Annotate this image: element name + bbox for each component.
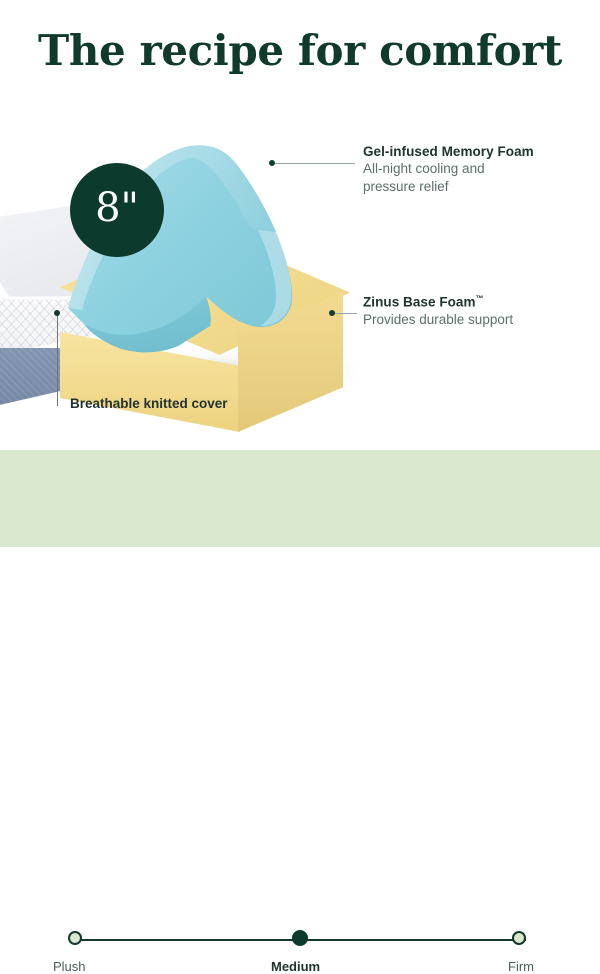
firmness-node-firm[interactable]	[512, 931, 526, 945]
firmness-scale: Plush Medium Firm	[0, 450, 600, 547]
firmness-label-plush: Plush	[53, 959, 86, 974]
callout-base-foam-title-text: Zinus Base Foam	[363, 295, 476, 310]
leader-line-base-foam	[335, 313, 357, 314]
callout-gel-memory-foam-body-line1: All-night cooling and	[363, 160, 534, 178]
callout-gel-memory-foam-title: Gel-infused Memory Foam	[363, 144, 534, 159]
firmness-node-medium[interactable]	[292, 930, 308, 946]
leader-line-knitted-cover	[57, 316, 58, 406]
callout-gel-memory-foam: Gel-infused Memory Foam All-night coolin…	[363, 144, 534, 196]
trademark-symbol: ™	[476, 294, 484, 303]
leader-line-gel-memory-foam	[275, 163, 355, 164]
callout-base-foam-title: Zinus Base Foam™	[363, 294, 513, 310]
firmness-label-medium: Medium	[271, 959, 320, 974]
infographic-page: The recipe for comfort	[0, 0, 600, 547]
callout-gel-memory-foam-body-line2: pressure relief	[363, 178, 534, 196]
callout-base-foam-body-line1: Provides durable support	[363, 311, 513, 329]
callout-base-foam: Zinus Base Foam™ Provides durable suppor…	[363, 294, 513, 329]
firmness-label-firm: Firm	[508, 959, 534, 974]
callout-gel-memory-foam-body: All-night cooling and pressure relief	[363, 160, 534, 196]
thickness-badge: 8"	[70, 163, 164, 257]
thickness-badge-label: 8"	[95, 188, 139, 228]
callout-knitted-cover-label: Breathable knitted cover	[70, 396, 228, 411]
firmness-node-plush[interactable]	[68, 931, 82, 945]
callout-base-foam-body: Provides durable support	[363, 311, 513, 329]
mattress-illustration: 8"	[0, 60, 600, 440]
